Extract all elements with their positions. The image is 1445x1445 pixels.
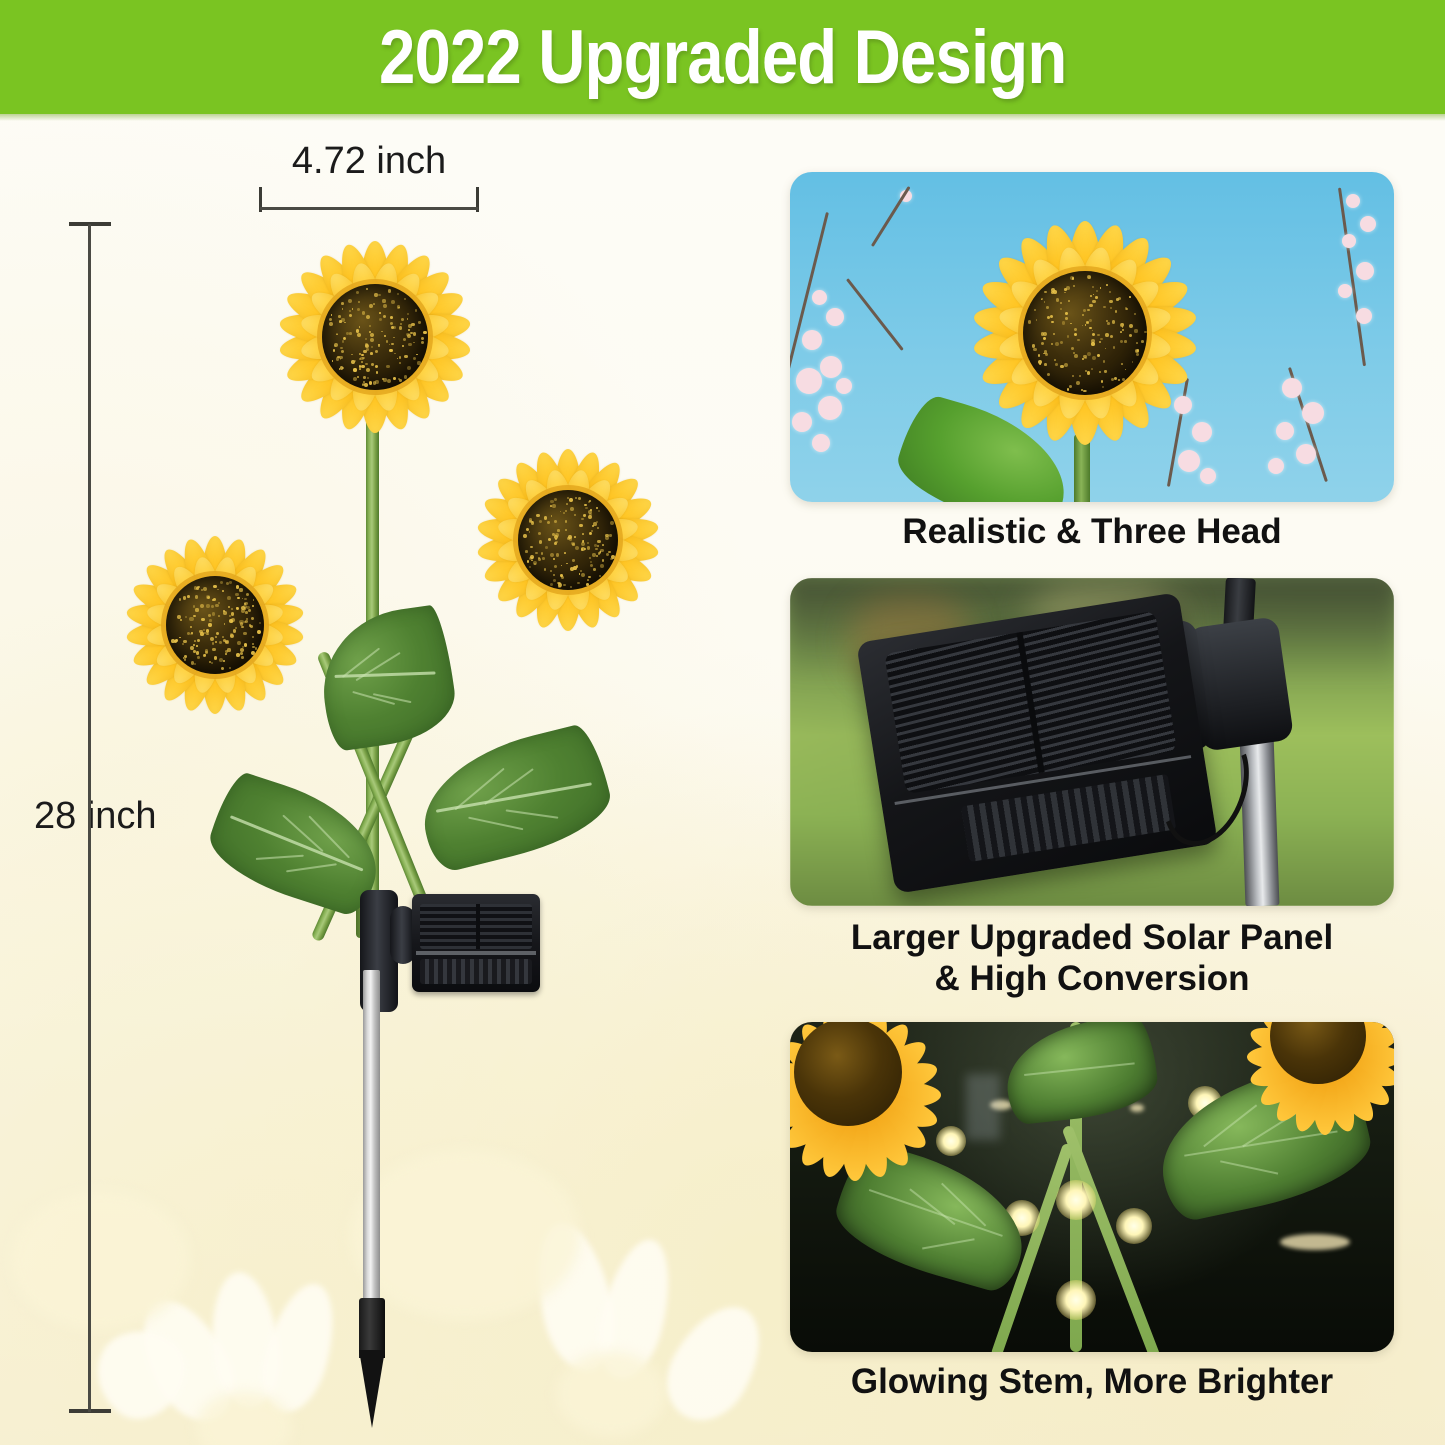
seed-speck bbox=[529, 531, 531, 533]
seed-speck bbox=[570, 586, 572, 588]
seed-speck bbox=[1065, 312, 1068, 315]
seed-speck bbox=[194, 663, 196, 665]
seed-speck bbox=[231, 608, 233, 610]
seed-speck bbox=[244, 643, 248, 647]
caption-line: Glowing Stem, More Brighter bbox=[790, 1362, 1394, 1403]
seed-speck bbox=[1051, 321, 1053, 323]
seed-speck bbox=[216, 632, 219, 635]
seed-speck bbox=[1051, 343, 1053, 345]
seed-speck bbox=[331, 314, 333, 316]
seed-speck bbox=[393, 337, 395, 339]
seed-speck bbox=[257, 630, 261, 634]
feature-photo-realistic-three-head bbox=[790, 172, 1394, 502]
seed-speck bbox=[400, 323, 402, 325]
seed-speck bbox=[179, 637, 181, 639]
seed-speck bbox=[1046, 306, 1049, 309]
seed-speck bbox=[525, 550, 528, 553]
seed-speck bbox=[1100, 338, 1103, 341]
seed-speck bbox=[1092, 300, 1095, 303]
seed-speck bbox=[370, 338, 374, 342]
seed-speck bbox=[578, 497, 581, 500]
seed-speck bbox=[1141, 340, 1144, 343]
seed-speck bbox=[383, 304, 387, 308]
seed-speck bbox=[1110, 335, 1113, 338]
seed-speck bbox=[369, 304, 373, 308]
seed-speck bbox=[227, 596, 231, 600]
seed-speck bbox=[1116, 298, 1119, 301]
seed-speck bbox=[251, 651, 255, 655]
seed-speck bbox=[359, 365, 361, 367]
seed-speck bbox=[1067, 335, 1069, 337]
sunflower-center bbox=[322, 284, 428, 390]
feature-caption-realistic-three-head: Realistic & Three Head bbox=[790, 512, 1394, 553]
seed-speck bbox=[581, 547, 585, 551]
seed-speck bbox=[555, 538, 557, 540]
seed-speck bbox=[1028, 320, 1032, 324]
seed-speck bbox=[361, 361, 363, 363]
seed-speck bbox=[215, 641, 217, 643]
seed-speck bbox=[177, 615, 181, 619]
seed-speck bbox=[590, 564, 593, 567]
led-node bbox=[1116, 1208, 1152, 1244]
seed-speck bbox=[545, 546, 548, 549]
seed-speck bbox=[597, 545, 599, 547]
seed-speck bbox=[1106, 284, 1108, 286]
seed-speck bbox=[588, 515, 592, 519]
solar-cell-divider bbox=[476, 904, 480, 949]
seed-speck bbox=[560, 574, 563, 577]
seed-speck bbox=[203, 587, 207, 591]
seed-speck bbox=[210, 637, 214, 641]
seed-speck bbox=[201, 618, 204, 621]
seed-speck bbox=[404, 298, 406, 300]
seed-speck bbox=[363, 376, 366, 379]
sunflower-center bbox=[166, 576, 264, 674]
sunflower-closeup bbox=[940, 188, 1230, 478]
seed-speck bbox=[1091, 342, 1095, 346]
seed-speck bbox=[553, 574, 555, 576]
seed-speck bbox=[1120, 331, 1122, 333]
seed-speck bbox=[203, 654, 206, 657]
seed-speck bbox=[391, 326, 394, 329]
seed-speck bbox=[596, 555, 598, 557]
seed-speck bbox=[1125, 369, 1127, 371]
seed-speck bbox=[413, 342, 415, 344]
seed-speck bbox=[241, 656, 244, 659]
seed-speck bbox=[1053, 290, 1057, 294]
seed-speck bbox=[542, 557, 545, 560]
seed-speck bbox=[609, 534, 611, 536]
seed-speck bbox=[353, 377, 357, 381]
seed-speck bbox=[1103, 306, 1106, 309]
seed-speck bbox=[251, 617, 254, 620]
seed-speck bbox=[194, 586, 197, 589]
seed-speck bbox=[1079, 375, 1081, 377]
seed-speck bbox=[591, 530, 593, 532]
seed-speck bbox=[229, 667, 231, 669]
seed-speck bbox=[348, 299, 352, 303]
seed-speck bbox=[1082, 314, 1084, 316]
seed-speck bbox=[182, 643, 184, 645]
seed-speck bbox=[1100, 287, 1102, 289]
seed-speck bbox=[252, 605, 254, 607]
seed-speck bbox=[197, 639, 200, 642]
sunflower-center bbox=[1023, 271, 1147, 395]
seed-speck bbox=[197, 586, 200, 589]
seed-speck bbox=[579, 524, 583, 528]
seed-speck bbox=[599, 575, 601, 577]
seed-speck bbox=[357, 376, 360, 379]
seed-speck bbox=[244, 598, 247, 601]
seed-speck bbox=[589, 557, 591, 559]
seed-speck bbox=[579, 573, 581, 575]
seed-speck bbox=[1111, 378, 1114, 381]
seed-speck bbox=[215, 636, 217, 638]
seed-speck bbox=[406, 333, 409, 336]
seed-speck bbox=[378, 344, 380, 346]
seed-speck bbox=[553, 558, 555, 560]
seed-speck bbox=[572, 559, 574, 561]
seed-speck bbox=[538, 558, 541, 561]
seed-speck bbox=[389, 349, 392, 352]
seed-speck bbox=[243, 632, 246, 635]
seed-speck bbox=[533, 561, 537, 565]
seed-speck bbox=[1107, 322, 1110, 325]
seed-speck bbox=[375, 365, 378, 368]
seed-speck bbox=[1106, 320, 1108, 322]
seed-speck bbox=[407, 366, 411, 370]
seed-speck bbox=[1097, 354, 1101, 358]
seed-speck bbox=[550, 500, 554, 504]
seed-speck bbox=[1093, 294, 1095, 296]
seed-speck bbox=[1089, 319, 1092, 322]
seed-speck bbox=[359, 358, 361, 360]
seed-speck bbox=[361, 354, 363, 356]
seed-speck bbox=[580, 570, 582, 572]
seed-speck bbox=[341, 318, 344, 321]
seed-speck bbox=[1073, 352, 1075, 354]
seed-speck bbox=[394, 353, 396, 355]
seed-speck bbox=[1092, 330, 1094, 332]
seed-speck bbox=[1134, 329, 1137, 332]
seed-speck bbox=[212, 648, 216, 652]
seed-speck bbox=[236, 653, 240, 657]
seed-speck bbox=[240, 652, 243, 655]
seed-speck bbox=[1071, 347, 1074, 350]
seed-speck bbox=[573, 566, 577, 570]
seed-speck bbox=[236, 607, 239, 610]
seed-speck bbox=[357, 308, 360, 311]
seed-speck bbox=[1065, 317, 1068, 320]
seed-speck bbox=[1110, 307, 1112, 309]
leaf-upper-center bbox=[313, 604, 460, 753]
seed-speck bbox=[592, 553, 595, 556]
seed-speck bbox=[407, 318, 409, 320]
seed-speck bbox=[1062, 321, 1065, 324]
seed-speck bbox=[536, 514, 539, 517]
seed-speck bbox=[574, 536, 576, 538]
background-figure bbox=[966, 1074, 1000, 1140]
seed-speck bbox=[413, 357, 416, 360]
seed-speck bbox=[1044, 301, 1046, 303]
seed-speck bbox=[250, 625, 253, 628]
seed-speck bbox=[255, 647, 258, 650]
seed-speck bbox=[365, 338, 368, 341]
seed-speck bbox=[383, 378, 386, 381]
seed-speck bbox=[554, 498, 557, 501]
seed-speck bbox=[338, 315, 341, 318]
seed-speck bbox=[410, 332, 412, 334]
seed-speck bbox=[378, 294, 381, 297]
seed-speck bbox=[212, 612, 215, 615]
seed-speck bbox=[550, 553, 554, 557]
seed-speck bbox=[1132, 361, 1134, 363]
seed-speck bbox=[554, 565, 557, 568]
seed-speck bbox=[213, 585, 216, 588]
seed-speck bbox=[1115, 310, 1118, 313]
seed-speck bbox=[408, 343, 412, 347]
seed-speck bbox=[379, 318, 382, 321]
seed-speck bbox=[1105, 348, 1107, 350]
seed-speck bbox=[1113, 346, 1115, 348]
seed-speck bbox=[369, 381, 372, 384]
seed-speck bbox=[1136, 342, 1138, 344]
seed-speck bbox=[375, 350, 378, 353]
seed-speck bbox=[342, 340, 345, 343]
seed-speck bbox=[1129, 296, 1131, 298]
seed-speck bbox=[1069, 385, 1072, 388]
seed-speck bbox=[183, 596, 187, 600]
seed-speck bbox=[211, 662, 214, 665]
sunflower-center bbox=[794, 1022, 902, 1126]
seed-speck bbox=[417, 361, 420, 364]
seed-speck bbox=[371, 346, 374, 349]
caption-line: & High Conversion bbox=[790, 959, 1394, 1000]
seed-speck bbox=[539, 520, 542, 523]
seed-speck bbox=[246, 593, 249, 596]
seed-speck bbox=[544, 516, 548, 520]
seed-speck bbox=[1122, 378, 1125, 381]
caption-line: Larger Upgraded Solar Panel bbox=[790, 918, 1394, 959]
seed-speck bbox=[1060, 308, 1062, 310]
seed-speck bbox=[561, 565, 563, 567]
seed-speck bbox=[565, 520, 568, 523]
stake-tip bbox=[359, 1350, 385, 1428]
seed-speck bbox=[222, 636, 224, 638]
seed-speck bbox=[229, 581, 231, 583]
seed-speck bbox=[341, 302, 344, 305]
seed-speck bbox=[552, 504, 556, 508]
seed-speck bbox=[393, 377, 396, 380]
seed-speck bbox=[413, 332, 416, 335]
seed-speck bbox=[351, 360, 355, 364]
seed-speck bbox=[1045, 353, 1048, 356]
seed-speck bbox=[575, 497, 577, 499]
seed-speck bbox=[399, 362, 401, 364]
seed-speck bbox=[1103, 360, 1105, 362]
seed-speck bbox=[1072, 277, 1074, 279]
page-title: 2022 Upgraded Design bbox=[379, 14, 1066, 101]
seed-speck bbox=[259, 622, 261, 624]
seed-speck bbox=[421, 337, 424, 340]
seed-speck bbox=[399, 356, 401, 358]
seed-speck bbox=[538, 532, 541, 535]
seed-speck bbox=[388, 289, 391, 292]
seed-speck bbox=[179, 598, 182, 601]
seed-speck bbox=[342, 308, 344, 310]
seed-speck bbox=[333, 349, 336, 352]
seed-speck bbox=[336, 333, 338, 335]
seed-speck bbox=[418, 321, 420, 323]
seed-speck bbox=[1085, 324, 1087, 326]
seed-speck bbox=[600, 564, 604, 568]
feature-photo-glowing-stem bbox=[790, 1022, 1394, 1352]
seed-speck bbox=[373, 303, 375, 305]
seed-speck bbox=[1104, 370, 1106, 372]
seed-speck bbox=[1072, 375, 1075, 378]
seed-speck bbox=[352, 308, 354, 310]
seed-speck bbox=[349, 310, 351, 312]
seed-speck bbox=[1096, 290, 1098, 292]
seed-speck bbox=[245, 620, 248, 623]
seed-speck bbox=[565, 510, 567, 512]
seed-speck bbox=[184, 658, 186, 660]
seed-speck bbox=[185, 616, 187, 618]
seed-speck bbox=[1085, 390, 1087, 392]
seed-speck bbox=[364, 383, 368, 387]
seed-speck bbox=[1124, 340, 1127, 343]
seed-speck bbox=[362, 357, 364, 359]
seed-speck bbox=[399, 379, 402, 382]
seed-speck bbox=[401, 318, 404, 321]
seed-speck bbox=[1144, 331, 1147, 334]
seed-speck bbox=[397, 293, 400, 296]
seed-speck bbox=[407, 313, 409, 315]
seed-speck bbox=[1121, 363, 1123, 365]
seed-speck bbox=[214, 656, 218, 660]
seed-speck bbox=[381, 331, 383, 333]
seed-speck bbox=[196, 645, 198, 647]
seed-speck bbox=[423, 331, 427, 335]
seed-speck bbox=[606, 553, 609, 556]
seed-speck bbox=[1087, 309, 1090, 312]
seed-speck bbox=[530, 555, 534, 559]
seed-speck bbox=[195, 595, 199, 599]
seed-speck bbox=[253, 599, 255, 601]
feature-caption-solar-panel: Larger Upgraded Solar Panel & High Conve… bbox=[790, 918, 1394, 999]
seed-speck bbox=[226, 582, 229, 585]
seed-speck bbox=[208, 623, 211, 626]
seed-speck bbox=[215, 604, 219, 608]
seed-speck bbox=[1087, 371, 1091, 375]
seed-speck bbox=[1033, 348, 1037, 352]
seed-speck bbox=[1086, 322, 1088, 324]
seed-speck bbox=[598, 510, 600, 512]
seed-speck bbox=[1077, 339, 1080, 342]
seed-speck bbox=[404, 375, 407, 378]
seed-speck bbox=[195, 608, 198, 611]
seed-speck bbox=[1068, 300, 1070, 302]
seed-speck bbox=[390, 322, 393, 325]
seed-speck bbox=[370, 352, 373, 355]
led-node bbox=[1056, 1180, 1096, 1220]
seed-speck bbox=[1095, 296, 1098, 299]
seed-speck bbox=[1036, 319, 1038, 321]
seed-speck bbox=[595, 548, 597, 550]
seed-speck bbox=[180, 619, 182, 621]
seed-speck bbox=[541, 552, 544, 555]
seed-speck bbox=[389, 344, 391, 346]
seed-speck bbox=[359, 326, 361, 328]
seed-speck bbox=[370, 333, 374, 337]
seed-speck bbox=[386, 340, 388, 342]
seed-speck bbox=[222, 590, 224, 592]
stake-tip-body bbox=[359, 1298, 385, 1358]
seed-speck bbox=[237, 641, 241, 645]
seed-speck bbox=[358, 301, 360, 303]
seed-speck bbox=[1070, 323, 1072, 325]
solar-panel-lip bbox=[416, 951, 536, 955]
seed-speck bbox=[564, 552, 566, 554]
seed-speck bbox=[1053, 333, 1055, 335]
seed-speck bbox=[353, 368, 357, 372]
seed-speck bbox=[1074, 328, 1077, 331]
solar-panel-ribs bbox=[420, 959, 533, 984]
seed-speck bbox=[593, 568, 596, 571]
seed-speck bbox=[569, 498, 573, 502]
seed-speck bbox=[587, 546, 591, 550]
seed-speck bbox=[230, 633, 233, 636]
seed-speck bbox=[602, 559, 605, 562]
seed-speck bbox=[252, 643, 254, 645]
seed-speck bbox=[597, 540, 601, 544]
seed-speck bbox=[241, 626, 243, 628]
seed-speck bbox=[1134, 313, 1136, 315]
seed-speck bbox=[196, 651, 200, 655]
seed-speck bbox=[336, 357, 340, 361]
seed-speck bbox=[187, 595, 190, 598]
seed-speck bbox=[1136, 353, 1139, 356]
seed-speck bbox=[587, 542, 589, 544]
seed-speck bbox=[399, 326, 402, 329]
seed-speck bbox=[1092, 356, 1096, 360]
seed-speck bbox=[1089, 327, 1091, 329]
seed-speck bbox=[1066, 286, 1070, 290]
seed-speck bbox=[171, 639, 175, 643]
seed-speck bbox=[332, 360, 334, 362]
seed-speck bbox=[219, 641, 222, 644]
seed-speck bbox=[386, 365, 390, 369]
seed-speck bbox=[523, 534, 527, 538]
seed-speck bbox=[570, 507, 574, 511]
seed-speck bbox=[1054, 359, 1056, 361]
seed-speck bbox=[583, 514, 586, 517]
seed-speck bbox=[588, 501, 590, 503]
seed-speck bbox=[231, 612, 235, 616]
seed-speck bbox=[191, 632, 193, 634]
distant-light bbox=[1130, 1104, 1144, 1112]
seed-speck bbox=[207, 596, 210, 599]
glowing-sunflower-right bbox=[1230, 1022, 1394, 1152]
seed-speck bbox=[329, 322, 333, 326]
seed-speck bbox=[244, 602, 247, 605]
seed-speck bbox=[1099, 341, 1101, 343]
seed-speck bbox=[1114, 377, 1117, 380]
seed-speck bbox=[391, 300, 395, 304]
seed-speck bbox=[1099, 371, 1101, 373]
seed-speck bbox=[581, 518, 584, 521]
seed-speck bbox=[190, 646, 194, 650]
